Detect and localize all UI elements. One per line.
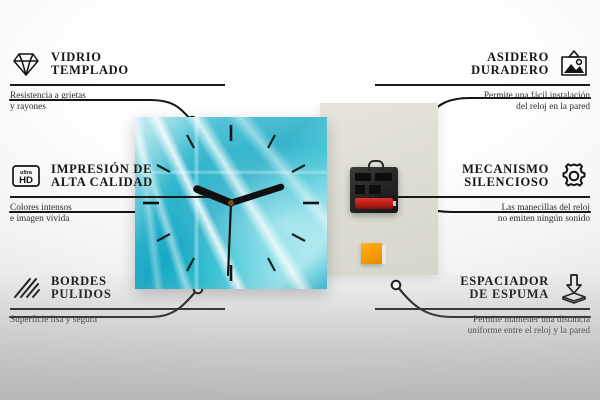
feature-title: VIDRIO	[51, 51, 129, 65]
feature-title: BORDES	[51, 275, 111, 289]
mechanism-slot	[355, 185, 365, 194]
hour-hand	[197, 189, 231, 203]
feature-title: SILENCIOSO	[462, 176, 549, 190]
gear-icon	[558, 160, 590, 192]
feature-mecanismo-silencioso: MECANISMO SILENCIOSO Las manecillas del …	[375, 160, 590, 225]
feature-title: ASIDERO	[471, 51, 549, 65]
polished-edges-icon	[10, 272, 42, 304]
feature-desc: Las manecillas del reloj	[375, 203, 590, 214]
feature-desc: no emiten ningún sonido	[375, 214, 590, 225]
feature-title: ESPACIADOR	[460, 275, 549, 289]
glass-clock-face	[135, 117, 327, 289]
minute-hand	[231, 187, 281, 203]
feature-rule	[10, 308, 225, 310]
feature-espaciador-de-espuma: ESPACIADOR DE ESPUMA Permite mantener un…	[375, 272, 590, 337]
feature-title: MECANISMO	[462, 163, 549, 177]
foam-spacer-arrow-icon	[558, 272, 590, 304]
framed-picture-hanger-icon	[558, 48, 590, 80]
feature-desc: del reloj en la pared	[375, 102, 590, 113]
feature-desc: Permite una fácil instalación	[375, 91, 590, 102]
diamond-icon	[10, 48, 42, 80]
clock-center-cap	[228, 200, 234, 206]
feature-rule	[375, 196, 590, 198]
feature-title: TEMPLADO	[51, 64, 129, 78]
svg-text:HD: HD	[19, 175, 33, 186]
feature-rule	[375, 84, 590, 86]
feature-desc: y rayones	[10, 102, 225, 113]
ultra-hd-icon: ultra HD	[10, 160, 42, 192]
feature-desc: uniforme entre el reloj y la pared	[375, 326, 590, 337]
feature-vidrio-templado: VIDRIO TEMPLADO Resistencia a grietas y …	[10, 48, 225, 113]
clock-dial	[135, 117, 327, 289]
feature-title: DURADERO	[471, 64, 549, 78]
infographic-canvas: VIDRIO TEMPLADO Resistencia a grietas y …	[0, 0, 600, 400]
feature-desc: Superficie lisa y segura	[10, 315, 225, 326]
feature-desc: Permite mantener una distancia	[375, 315, 590, 326]
feature-rule	[10, 84, 225, 86]
feature-desc: Resistencia a grietas	[10, 91, 225, 102]
mechanism-slot	[355, 173, 371, 181]
second-hand	[228, 203, 231, 275]
feature-title: DE ESPUMA	[460, 288, 549, 302]
feature-asidero-duradero: ASIDERO DURADERO Permite una fácil insta…	[375, 48, 590, 113]
feature-title: PULIDOS	[51, 288, 111, 302]
feature-rule	[375, 308, 590, 310]
foam-spacer	[361, 243, 382, 264]
